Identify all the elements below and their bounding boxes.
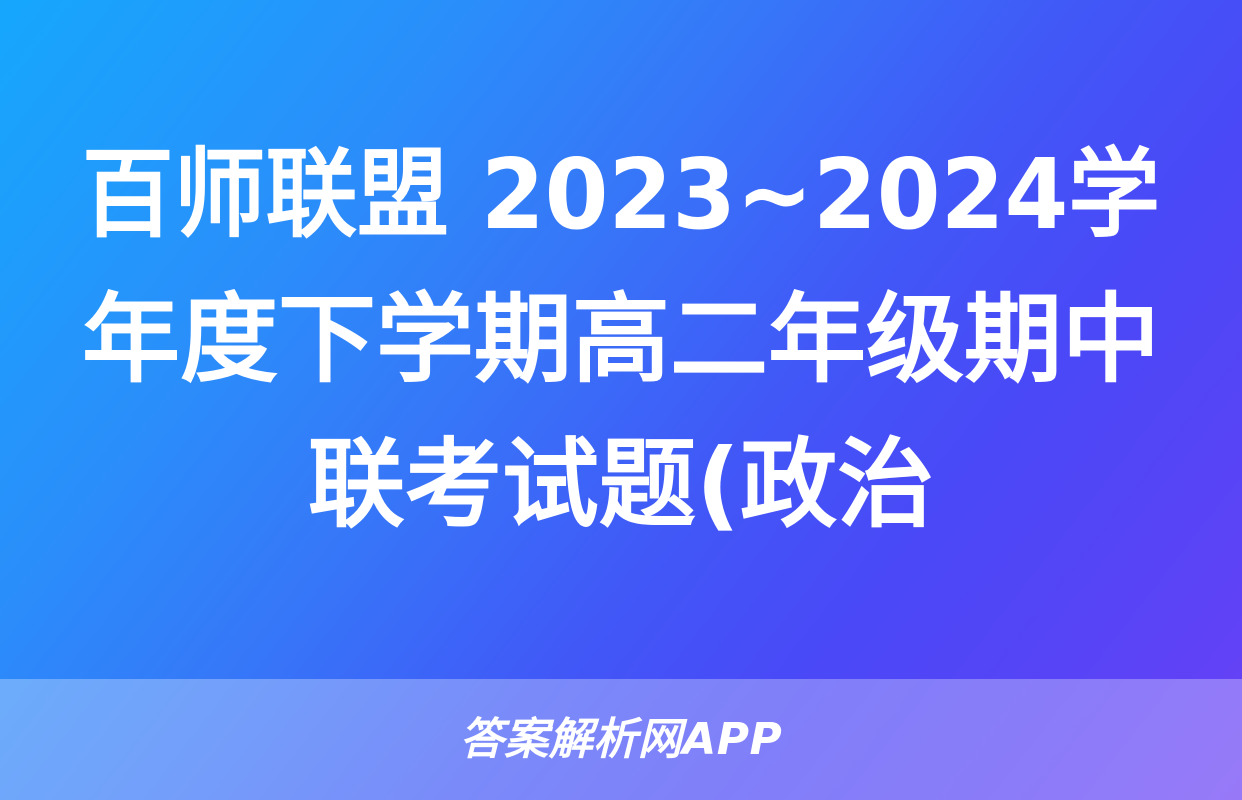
title-line-3: 联考试题(政治 xyxy=(82,412,1160,557)
title-block: 百师联盟 2023~2024学 年度下学期高二年级期中 联考试题(政治 xyxy=(0,0,1242,679)
title-card: 百师联盟 2023~2024学 年度下学期高二年级期中 联考试题(政治 答案解析… xyxy=(0,0,1242,800)
title-line-2: 年度下学期高二年级期中 xyxy=(82,267,1160,412)
title-line-1: 百师联盟 2023~2024学 xyxy=(82,122,1160,267)
footer-brand-label: 答案解析网APP xyxy=(460,716,783,764)
title-line-2-text: 年度下学期高二年级期中 xyxy=(82,267,1160,412)
title-line-1-text: 百师联盟 2023~2024学 xyxy=(82,122,1160,267)
footer-band: 答案解析网APP xyxy=(0,679,1242,800)
